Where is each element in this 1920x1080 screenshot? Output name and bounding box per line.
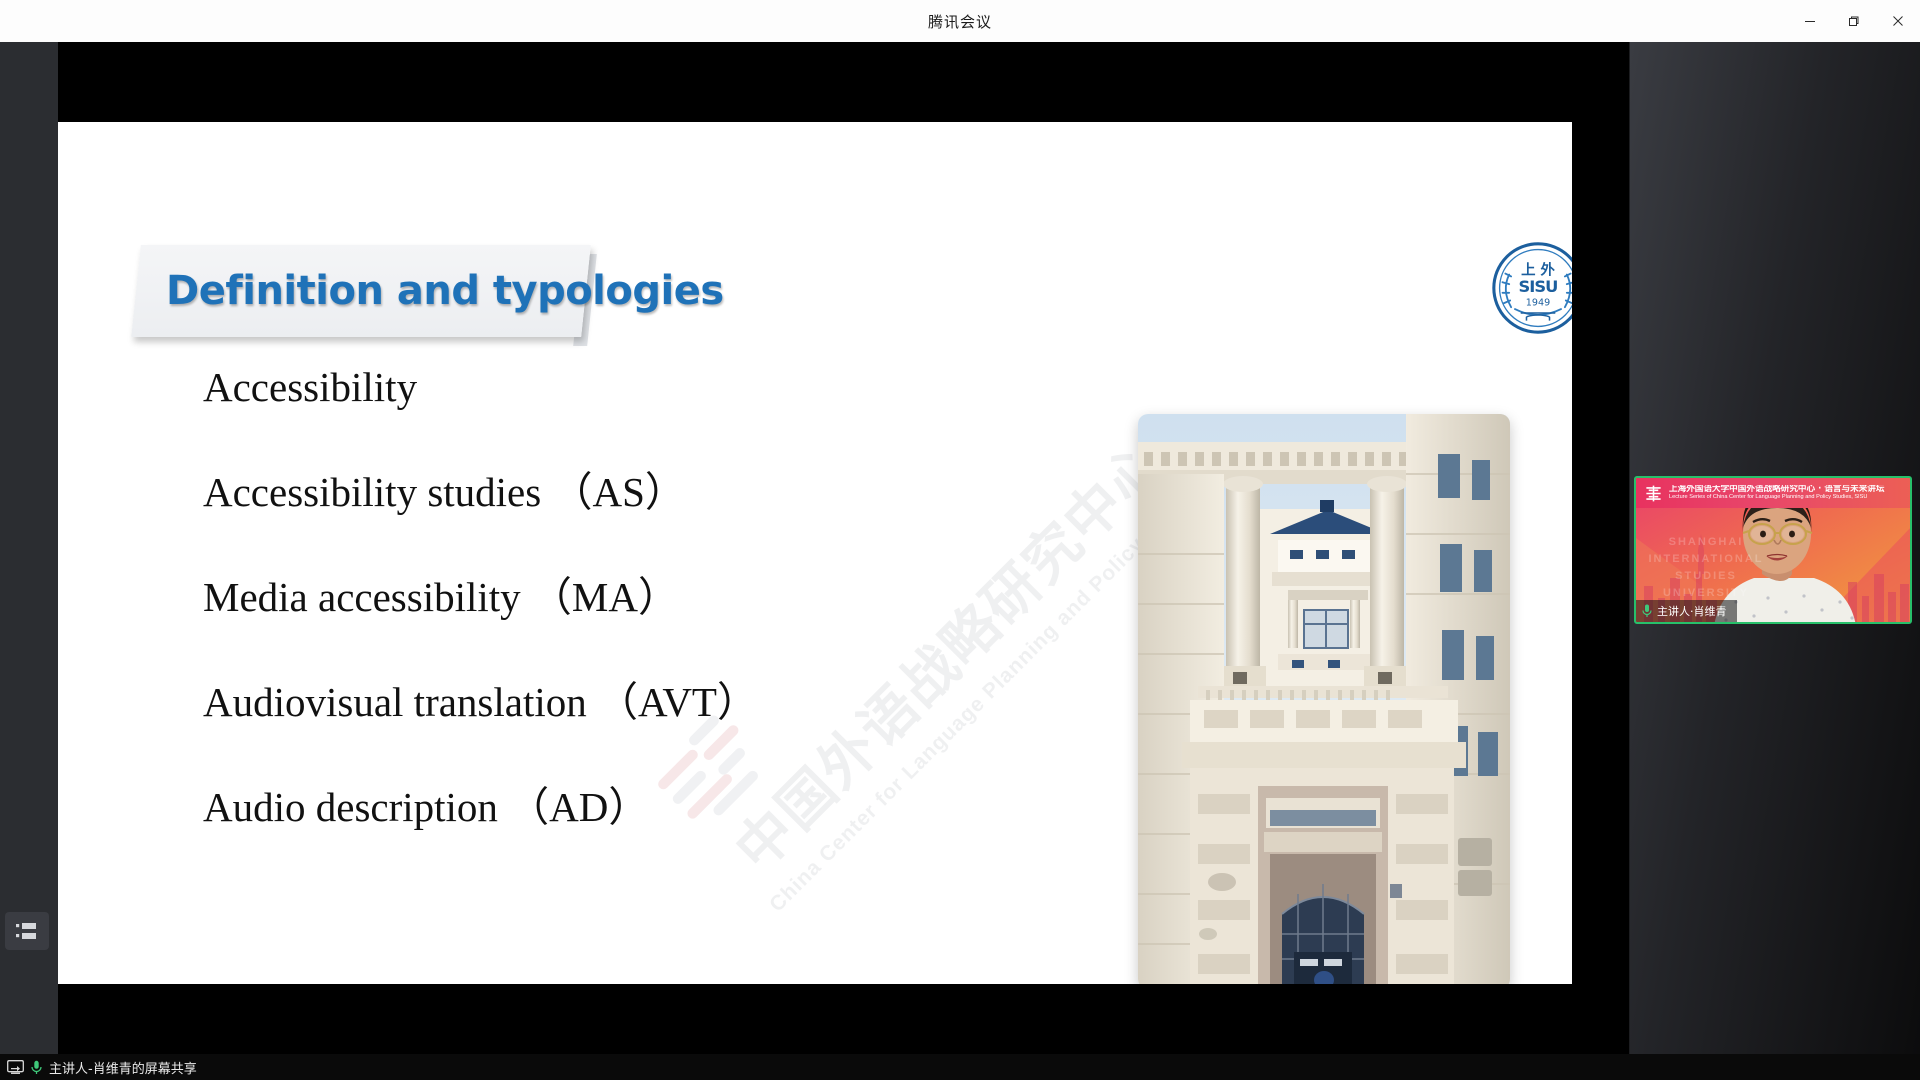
microphone-icon: [1642, 604, 1652, 618]
participant-video-tile[interactable]: 上海外国语大学中国外语战略研究中心 · 语言与未来讲坛 Lecture Seri…: [1634, 476, 1912, 624]
restore-button[interactable]: [1832, 0, 1876, 42]
banner-english-title: Lecture Series of China Center for Langu…: [1669, 495, 1885, 501]
minimize-icon: [1804, 15, 1816, 27]
bullet-item: Media accessibility （MA）: [203, 577, 843, 618]
bullet-item: Accessibility studies （AS）: [203, 472, 843, 513]
building-illustration: [1138, 414, 1510, 984]
list-panel-icon: [16, 922, 38, 940]
restore-icon: [1848, 15, 1860, 27]
campus-building-photo: [1138, 414, 1510, 984]
close-button[interactable]: [1876, 0, 1920, 42]
shared-screen-stage[interactable]: 中国外语战略研究中心 China Center for Language Pla…: [58, 42, 1629, 1054]
meeting-window-body: 中国外语战略研究中心 China Center for Language Pla…: [0, 42, 1920, 1080]
screen-share-status-bar: 主讲人-肖维青的屏幕共享: [0, 1054, 1920, 1080]
participant-video-panel[interactable]: 上海外国语大学中国外语战略研究中心 · 语言与未来讲坛 Lecture Seri…: [1629, 42, 1920, 1054]
screen-share-icon: [7, 1060, 24, 1074]
seal-chinese-text: 上 外: [1521, 261, 1555, 279]
window-controls: [1788, 0, 1920, 42]
slide-title-banner: Definition and typologies: [131, 245, 591, 337]
bullet-item: Accessibility: [203, 367, 843, 408]
left-rail: [0, 42, 58, 1080]
ccplps-logo-icon: [1644, 484, 1663, 503]
bullet-item: Audiovisual translation （AVT）: [203, 682, 843, 723]
virtual-background-banner: 上海外国语大学中国外语战略研究中心 · 语言与未来讲坛 Lecture Seri…: [1636, 478, 1910, 508]
microphone-icon: [31, 1060, 42, 1075]
window-title-bar[interactable]: 腾讯会议: [0, 0, 1920, 42]
slide-title: Definition and typologies: [166, 268, 724, 314]
minimize-button[interactable]: [1788, 0, 1832, 42]
participant-name-badge: 主讲人·肖维青: [1636, 600, 1737, 622]
window-title: 腾讯会议: [928, 11, 992, 32]
sisu-university-seal-icon: 上 外 SISU 1949: [1490, 240, 1572, 336]
seal-acronym: SISU: [1519, 277, 1558, 296]
close-icon: [1892, 15, 1904, 27]
participant-name: 主讲人·肖维青: [1657, 603, 1727, 619]
thumbnail-panel-toggle-button[interactable]: [5, 912, 49, 950]
bullet-list: Accessibility Accessibility studies （AS）…: [203, 367, 843, 892]
screen-share-status-text: 主讲人-肖维青的屏幕共享: [49, 1058, 197, 1077]
presentation-slide: 中国外语战略研究中心 China Center for Language Pla…: [58, 122, 1572, 984]
bullet-item: Audio description （AD）: [203, 787, 843, 828]
virtual-background-university-text: SHANGHAI INTERNATIONAL STUDIES UNIVERSIT…: [1646, 534, 1766, 602]
banner-chinese-title: 上海外国语大学中国外语战略研究中心 · 语言与未来讲坛: [1669, 485, 1885, 494]
seal-year: 1949: [1526, 297, 1550, 308]
